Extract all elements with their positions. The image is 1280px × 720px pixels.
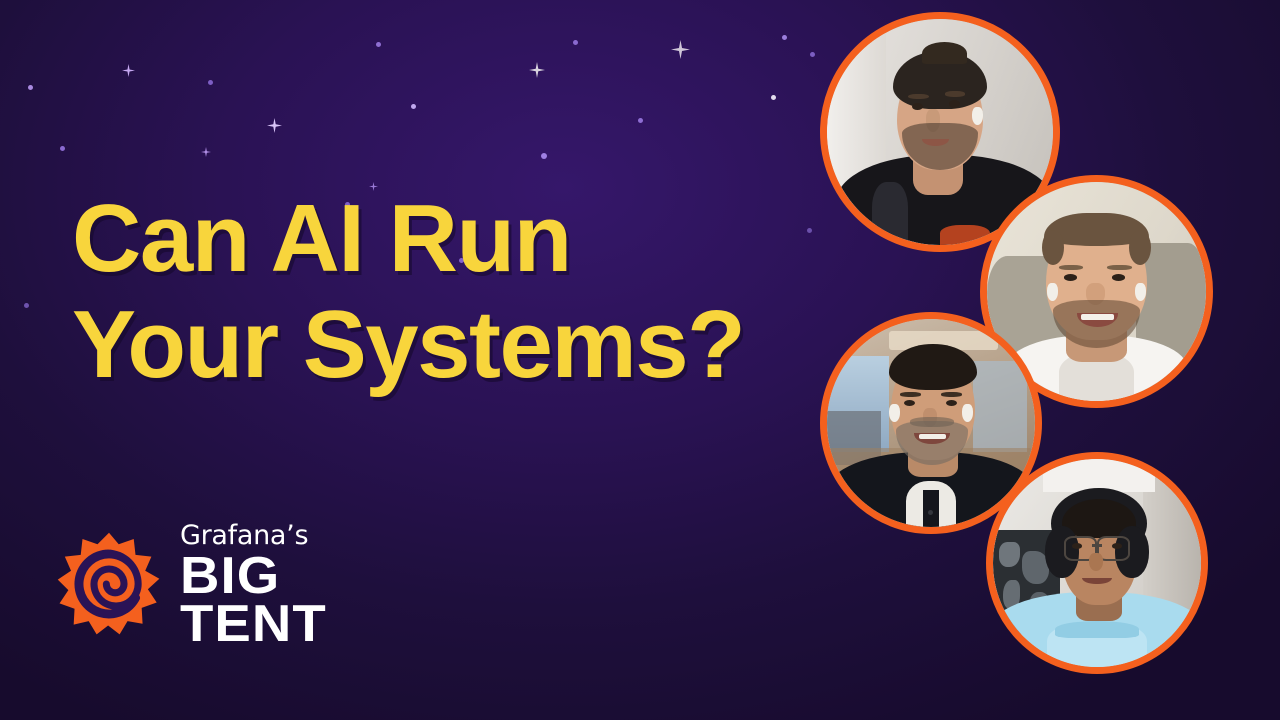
brand-lockup: Grafana’s BIG TENT: [56, 519, 320, 648]
star-sparkle-icon: [267, 118, 282, 133]
page-title: Can AI Run Your Systems?: [72, 186, 862, 398]
video-thumbnail: Can AI Run Your Systems? Grafana’s BIG T…: [0, 0, 1280, 720]
brand-word-tent: TENT: [180, 600, 327, 648]
star-dot: [638, 118, 643, 123]
star-dot: [376, 42, 381, 47]
star-sparkle-icon: [122, 64, 135, 77]
star-dot: [24, 303, 29, 308]
star-dot: [771, 95, 776, 100]
star-dot: [60, 146, 65, 151]
star-dot: [541, 153, 547, 159]
star-dot: [411, 104, 416, 109]
title-line-1: Can AI Run: [72, 186, 862, 292]
star-dot: [208, 80, 213, 85]
star-sparkle-icon: [201, 147, 211, 157]
brand-word-big: BIG: [180, 552, 327, 600]
star-sparkle-icon: [671, 40, 690, 59]
star-sparkle-icon: [529, 62, 545, 78]
avatar-guest-4: [986, 452, 1208, 674]
star-dot: [810, 52, 815, 57]
star-dot: [782, 35, 787, 40]
star-dot: [573, 40, 578, 45]
title-line-2: Your Systems?: [72, 292, 862, 398]
grafana-spiral-logo-icon: [56, 531, 162, 637]
star-dot: [28, 85, 33, 90]
